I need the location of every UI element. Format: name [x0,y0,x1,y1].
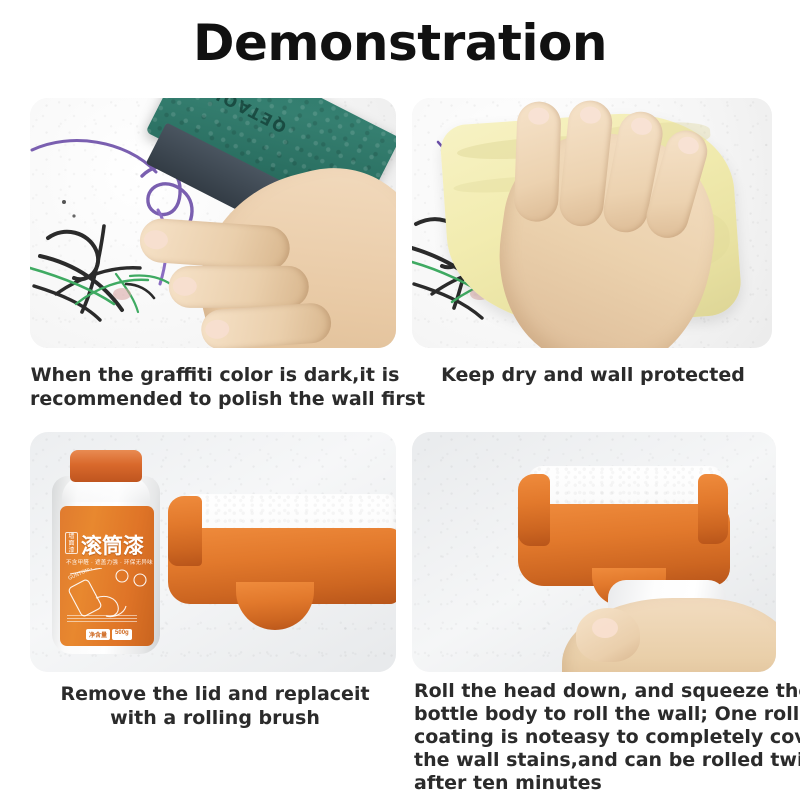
label-side-tag: 墙面漆 [65,532,78,554]
page-title: Demonstration [0,14,800,72]
panel-2-scene [412,98,772,348]
caption-roll-head-down: Roll the head down, and squeeze the bott… [414,680,784,795]
fingernail [528,107,550,125]
finger-index [514,101,562,222]
finger-ring [200,302,332,348]
panel-roll-wall [412,432,776,672]
caption-line: with a rolling brush [30,706,400,730]
caption-remove-lid: Remove the lid and replaceit with a roll… [30,682,400,730]
thumbnail [592,618,618,638]
hand [485,120,727,348]
bottle-cap [70,450,142,482]
svg-text:GUNTONG QI TUQIAO: GUNTONG QI TUQIAO [67,568,119,582]
roller-frame-arm-left [168,496,202,566]
label-weight-unit: 净含量 [86,629,110,640]
caption-line: recommended to polish the wall first [30,387,400,411]
paint-bottle: 墙面漆 滚筒漆 不含甲醛 · 遮盖力强 · 环保无异味 · 自干快干 GUNTO… [52,450,160,654]
caption-line: When the graffiti color is dark,it is [30,363,400,387]
panel-polish-wall: QETAOUC [30,98,396,348]
fingernail [205,319,230,340]
label-fineprint [67,615,137,624]
caption-line: Remove the lid and replaceit [30,682,400,706]
fingernail [630,116,654,137]
finger-middle [169,266,309,308]
label-weight-value: 500g [112,629,132,640]
roller-frame-arm-left [518,474,550,546]
label-weight-badge: 净含量 500g [86,629,132,640]
fingernail [579,106,602,125]
caption-line: bottle body to roll the wall; One roll [414,703,784,726]
caption-line: after ten minutes [414,772,784,795]
caption-line: coating is noteasy to completely cover [414,726,784,749]
label-subtitle: 不含甲醛 · 遮盖力强 · 环保无异味 · 自干快干 [66,558,150,566]
caption-polish-wall: When the graffiti color is dark,it is re… [30,363,400,411]
panel-bottle-and-roller: 墙面漆 滚筒漆 不含甲醛 · 遮盖力强 · 环保无异味 · 自干快干 GUNTO… [30,432,396,672]
label-title: 滚筒漆 [81,530,144,560]
caption-line: Keep dry and wall protected [412,363,774,387]
fingernail [676,134,701,156]
panel-3-scene: 墙面漆 滚筒漆 不含甲醛 · 遮盖力强 · 环保无异味 · 自干快干 GUNTO… [30,432,396,672]
fingernail [143,229,168,250]
panel-1-scene: QETAOUC [30,98,396,348]
caption-line: Roll the head down, and squeeze the [414,680,784,703]
thumb [576,608,640,662]
fingernail [173,277,197,296]
panel-4-scene [412,432,776,672]
roller-frame-arm-right [698,474,728,544]
panel-wipe-wall [412,98,772,348]
bottle-label: 墙面漆 滚筒漆 不含甲醛 · 遮盖力强 · 环保无异味 · 自干快干 GUNTO… [60,506,154,646]
caption-line: the wall stains,and can be rolled twice [414,749,784,772]
caption-keep-dry: Keep dry and wall protected [412,363,774,387]
